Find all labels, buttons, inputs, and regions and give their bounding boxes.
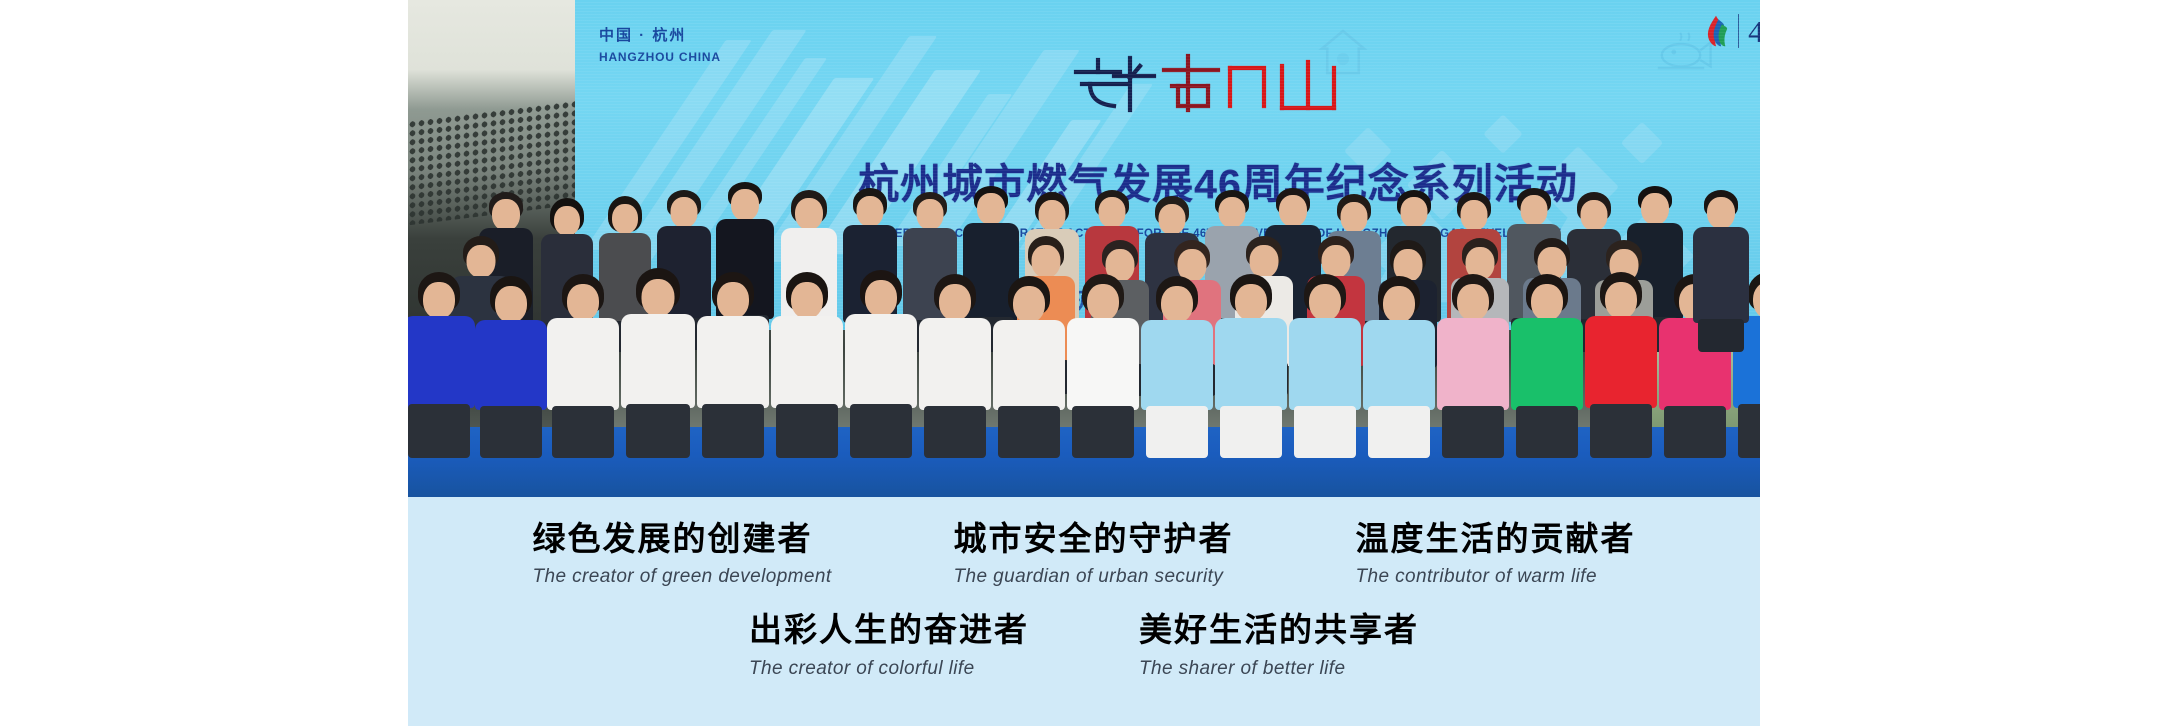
person bbox=[698, 272, 768, 458]
person bbox=[1290, 274, 1360, 458]
slogan-cn: 城市安全的守护者 bbox=[954, 521, 1234, 557]
group-photo: 中国 · 杭州 HANGZHOU CHINA 46 杭州燃气 HANGZHOU … bbox=[408, 0, 1760, 497]
person bbox=[548, 274, 618, 458]
person bbox=[1512, 274, 1582, 458]
person bbox=[408, 272, 474, 458]
person bbox=[920, 274, 990, 458]
slogan-en: The creator of colorful life bbox=[749, 658, 1029, 680]
slogan-green-development: 绿色发展的创建者 The creator of green developmen… bbox=[532, 521, 831, 588]
person bbox=[1068, 274, 1138, 458]
slogan-better-life: 美好生活的共享者 The sharer of better life bbox=[1139, 612, 1419, 679]
person bbox=[1694, 190, 1748, 352]
person bbox=[1364, 276, 1434, 458]
slogan-cn: 美好生活的共享者 bbox=[1139, 612, 1419, 648]
slogan-cn: 绿色发展的创建者 bbox=[532, 521, 831, 557]
slogan-section: 绿色发展的创建者 The creator of green developmen… bbox=[408, 497, 1760, 726]
slogan-row-2: 出彩人生的奋进者 The creator of colorful life 美好… bbox=[408, 588, 1760, 679]
slogan-en: The guardian of urban security bbox=[954, 566, 1234, 588]
slogan-row-1: 绿色发展的创建者 The creator of green developmen… bbox=[408, 497, 1760, 588]
person bbox=[846, 270, 916, 458]
person bbox=[622, 268, 694, 458]
slogan-en: The creator of green development bbox=[532, 566, 831, 588]
slogan-en: The sharer of better life bbox=[1139, 658, 1419, 680]
page-canvas: 中国 · 杭州 HANGZHOU CHINA 46 杭州燃气 HANGZHOU … bbox=[0, 0, 2179, 726]
slogan-en: The contributor of warm life bbox=[1356, 566, 1636, 588]
person bbox=[476, 276, 546, 458]
person bbox=[1216, 274, 1286, 458]
person bbox=[1586, 272, 1656, 458]
person bbox=[772, 272, 842, 458]
person bbox=[1142, 276, 1212, 458]
slogan-urban-security: 城市安全的守护者 The guardian of urban security bbox=[954, 521, 1234, 588]
slogan-cn: 出彩人生的奋进者 bbox=[749, 612, 1029, 648]
slogan-colorful-life: 出彩人生的奋进者 The creator of colorful life bbox=[749, 612, 1029, 679]
crowd-of-people bbox=[408, 0, 1760, 497]
slogan-warm-life: 温度生活的贡献者 The contributor of warm life bbox=[1356, 521, 1636, 588]
slogan-cn: 温度生活的贡献者 bbox=[1356, 521, 1636, 557]
person bbox=[994, 276, 1064, 458]
person bbox=[1438, 274, 1508, 458]
